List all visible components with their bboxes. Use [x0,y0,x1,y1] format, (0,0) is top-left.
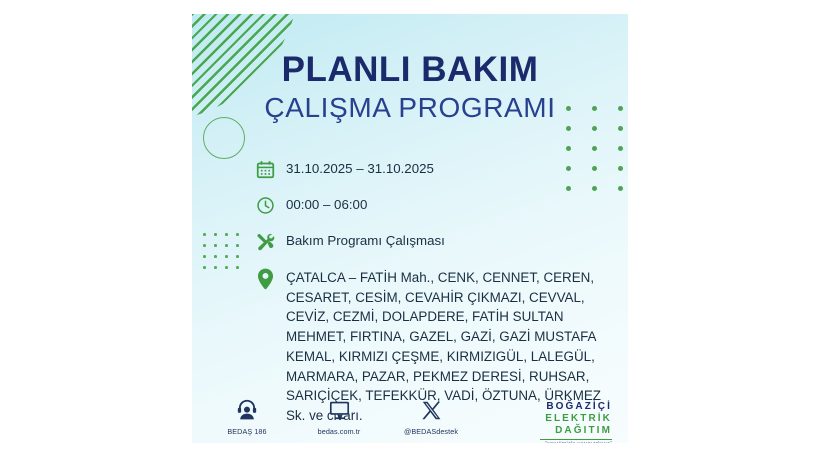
contact-call-center-label: BEDAŞ 186 [214,427,280,436]
info-row-date: 31.10.2025 – 31.10.2025 [252,160,612,182]
location-pin-icon [252,268,278,292]
circle-outline-decoration [203,117,245,159]
logo-tagline: "enerjimizle yarınızdayız" [540,442,612,443]
social-links: BEDAŞ 186 bedas.com.tr [214,398,464,436]
contact-twitter-label: @BEDASdestek [398,427,464,436]
contact-website[interactable]: bedas.com.tr [306,398,372,436]
x-twitter-icon [398,398,464,422]
info-row-time-text: 00:00 – 06:00 [286,196,367,211]
info-row-worktype: Bakım Programı Çalışması [252,232,612,254]
page-subtitle: ÇALIŞMA PROGRAMI [192,92,628,123]
card-footer: BEDAŞ 186 bedas.com.tr [192,398,628,443]
page-title: PLANLI BAKIM [192,52,628,88]
monitor-icon [306,398,372,422]
clock-icon [252,196,278,218]
planned-maintenance-card: PLANLI BAKIM ÇALIŞMA PROGRAMI 31 [192,14,628,443]
contact-twitter[interactable]: @BEDASdestek [398,398,464,436]
bedas-logo: BOĞAZİÇİ ELEKTRİK DAĞITIM "enerjimizle y… [540,402,612,443]
tools-icon [252,232,278,254]
logo-line-dagitim: DAĞITIM [540,426,612,436]
contact-website-label: bedas.com.tr [306,427,372,436]
card-header: PLANLI BAKIM ÇALIŞMA PROGRAMI [192,52,628,123]
logo-divider [540,439,612,440]
info-row-date-text: 31.10.2025 – 31.10.2025 [286,160,434,175]
dot-grid-left-decoration [203,233,247,277]
calendar-icon [252,160,278,182]
contact-call-center[interactable]: BEDAŞ 186 [214,398,280,436]
info-list: 31.10.2025 – 31.10.2025 00:00 – 06:00 Ba… [252,160,612,426]
info-row-time: 00:00 – 06:00 [252,196,612,218]
info-row-worktype-text: Bakım Programı Çalışması [286,232,445,247]
logo-line-bogazici: BOĞAZİÇİ [540,402,612,412]
logo-line-elektrik: ELEKTRİK [540,414,612,424]
call-center-agent-icon [214,398,280,422]
